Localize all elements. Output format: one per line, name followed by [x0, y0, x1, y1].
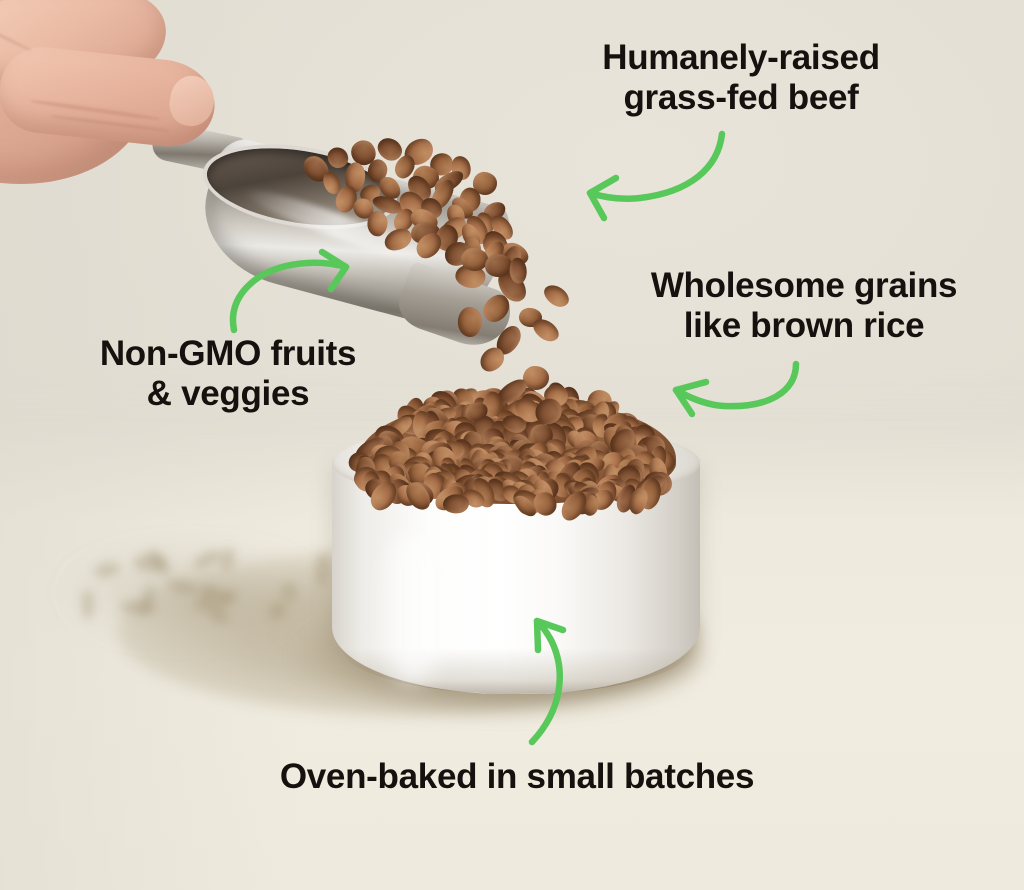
product-infographic-scene: Humanely-raised grass-fed beef Wholesome… — [0, 0, 1024, 890]
kibble-piece — [368, 211, 388, 237]
callout-oven-baked-small-batches: Oven-baked in small batches — [222, 757, 812, 797]
callout-wholesome-grains: Wholesome grains like brown rice — [624, 266, 984, 345]
callout-humanely-raised-grass-fed-beef: Humanely-raised grass-fed beef — [576, 38, 906, 117]
callout-non-gmo-fruits-veggies: Non-GMO fruits & veggies — [58, 334, 398, 413]
hand — [0, 0, 210, 198]
